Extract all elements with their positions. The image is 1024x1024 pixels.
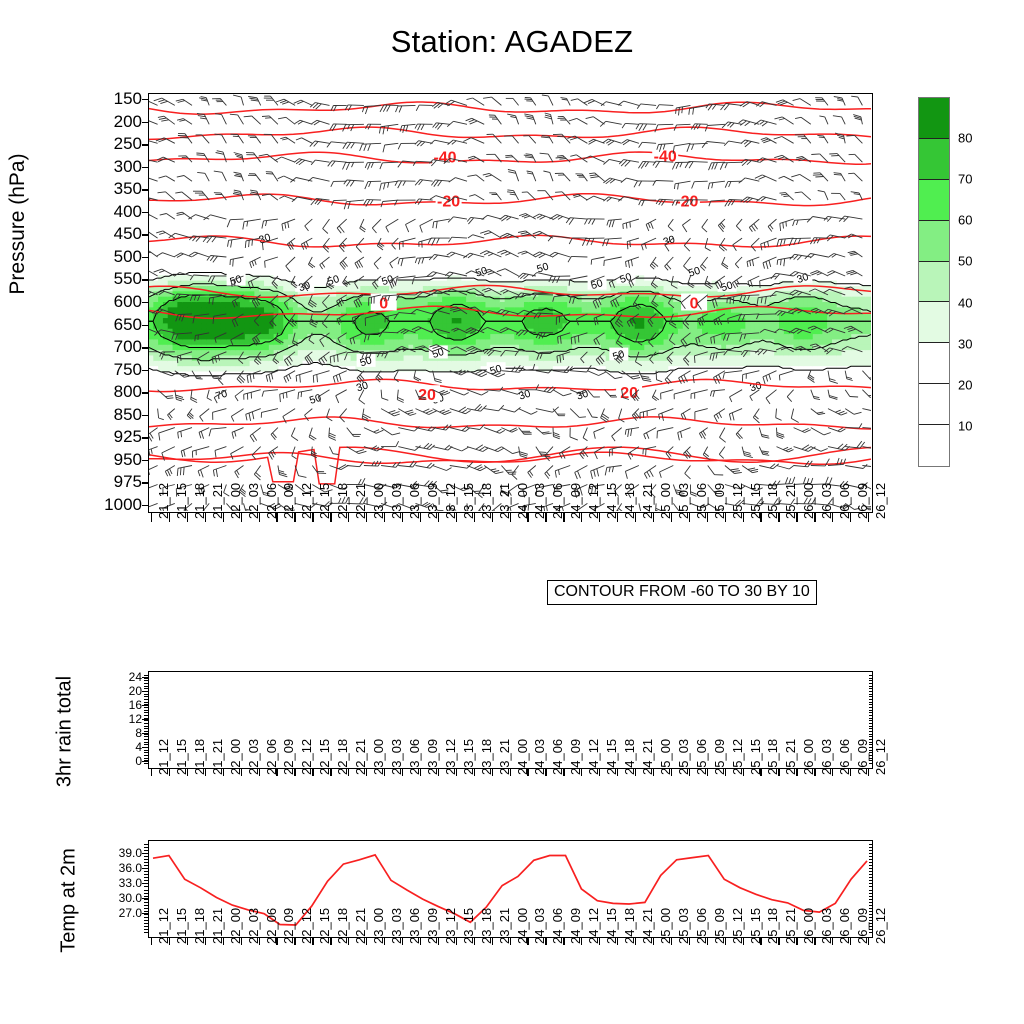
temp-minor-tick xyxy=(144,853,148,854)
rain-minor-tick xyxy=(144,691,148,692)
x-tick-mark xyxy=(527,769,528,776)
colorbar-band[interactable] xyxy=(919,302,949,343)
temp-minor-tick xyxy=(869,929,873,930)
rain-y-tick: 4 xyxy=(0,740,142,754)
colorbar-band[interactable] xyxy=(919,425,949,466)
x-tick-mark xyxy=(671,769,672,776)
x-tick-mark xyxy=(420,769,421,776)
main-y-tick: 350 xyxy=(0,179,142,199)
rain-minor-tick xyxy=(144,688,148,689)
x-tick-mark xyxy=(474,769,475,776)
x-tick-mark xyxy=(689,938,690,945)
temp-minor-tick xyxy=(144,902,148,903)
colorbar-tick-label: 40 xyxy=(958,295,972,310)
x-tick-mark xyxy=(599,769,600,776)
x-tick-mark xyxy=(438,769,439,776)
temp-minor-tick xyxy=(869,877,873,878)
x-tick-mark xyxy=(653,513,654,522)
x-tick-mark xyxy=(671,938,672,945)
x-tick-mark xyxy=(205,938,206,945)
main-y-tick: 450 xyxy=(0,224,142,244)
x-tick-mark xyxy=(527,513,528,522)
x-tick-mark xyxy=(276,938,277,945)
colorbar-tick-label: 10 xyxy=(958,418,972,433)
colorbar-tick-label: 70 xyxy=(958,172,972,187)
x-tick-mark xyxy=(760,769,761,776)
x-tick-mark xyxy=(241,513,242,522)
x-tick-mark xyxy=(420,513,421,522)
temp-minor-tick xyxy=(869,905,873,906)
rain-minor-tick xyxy=(144,702,148,703)
rain-minor-tick xyxy=(869,696,873,697)
rain-minor-tick xyxy=(144,758,148,759)
rain-minor-tick xyxy=(869,686,873,687)
x-tick-mark xyxy=(581,769,582,776)
x-tick-mark xyxy=(527,938,528,945)
rain-y-tick: 12 xyxy=(0,712,142,726)
rain-minor-tick xyxy=(144,720,148,721)
temp-minor-tick xyxy=(869,880,873,881)
rain-minor-tick xyxy=(869,718,873,719)
main-y-tick: 250 xyxy=(0,134,142,154)
x-tick-label: 26_12 xyxy=(873,483,888,519)
colorbar-tick-label: 80 xyxy=(958,131,972,146)
temp-minor-tick xyxy=(144,874,148,875)
temp-minor-tick xyxy=(144,871,148,872)
x-tick-mark xyxy=(581,513,582,522)
x-tick-mark xyxy=(187,938,188,945)
svg-text:-40: -40 xyxy=(433,150,456,167)
rain-minor-tick xyxy=(869,763,873,764)
x-tick-mark xyxy=(294,769,295,776)
temp-minor-tick xyxy=(869,844,873,845)
x-tick-mark xyxy=(617,938,618,945)
x-tick-mark xyxy=(187,769,188,776)
colorbar-band[interactable] xyxy=(919,343,949,384)
x-tick-mark xyxy=(276,769,277,776)
x-tick-mark xyxy=(832,938,833,945)
temp-minor-tick xyxy=(869,926,873,927)
temp-minor-tick xyxy=(144,890,148,891)
x-tick-mark xyxy=(617,769,618,776)
x-tick-mark xyxy=(492,513,493,522)
rain-minor-tick xyxy=(144,715,148,716)
x-tick-label: 26_12 xyxy=(873,908,888,944)
rain-minor-tick xyxy=(869,678,873,679)
colorbar-band[interactable] xyxy=(919,384,949,425)
main-y-tick: 400 xyxy=(0,202,142,222)
x-tick-mark xyxy=(312,938,313,945)
x-tick-mark xyxy=(581,938,582,945)
temp-y-tick: 39.0 xyxy=(0,846,142,860)
rain-minor-tick xyxy=(144,747,148,748)
temp-minor-tick xyxy=(144,844,148,845)
main-y-tick: 500 xyxy=(0,247,142,267)
x-tick-mark xyxy=(778,769,779,776)
rain-minor-tick xyxy=(144,734,148,735)
temp-minor-tick xyxy=(869,890,873,891)
temp-minor-tick xyxy=(869,902,873,903)
x-tick-mark xyxy=(384,513,385,522)
x-tick-mark xyxy=(563,513,564,522)
rain-y-tick: 8 xyxy=(0,726,142,740)
temp-y-tick: 27.0 xyxy=(0,906,142,920)
x-tick-mark xyxy=(294,938,295,945)
x-tick-mark xyxy=(205,513,206,522)
sounding-time-height-plot[interactable]: 7050503050505050505050503030305050303030… xyxy=(148,93,873,513)
temp-minor-tick xyxy=(869,914,873,915)
rain-minor-tick xyxy=(144,680,148,681)
rain-minor-tick xyxy=(144,750,148,751)
x-tick-mark xyxy=(456,513,457,522)
x-tick-mark xyxy=(599,938,600,945)
x-tick-mark xyxy=(653,938,654,945)
temp-minor-tick xyxy=(869,859,873,860)
temp-minor-tick xyxy=(869,911,873,912)
rain-minor-tick xyxy=(144,739,148,740)
rain-minor-tick xyxy=(144,731,148,732)
main-y-tick: 200 xyxy=(0,112,142,132)
rain-minor-tick xyxy=(144,707,148,708)
x-tick-mark xyxy=(312,769,313,776)
x-tick-mark xyxy=(545,938,546,945)
rain-minor-tick xyxy=(144,712,148,713)
x-tick-mark xyxy=(743,769,744,776)
main-y-tick: 950 xyxy=(0,450,142,470)
rain-minor-tick xyxy=(144,699,148,700)
x-tick-mark xyxy=(169,769,170,776)
colorbar-tick-label: 30 xyxy=(958,336,972,351)
temp-minor-tick xyxy=(144,886,148,887)
x-tick-mark xyxy=(796,938,797,945)
temp-minor-tick xyxy=(869,853,873,854)
x-tick-mark xyxy=(438,513,439,522)
rain-minor-tick xyxy=(144,763,148,764)
x-tick-mark xyxy=(169,513,170,522)
temp-minor-tick xyxy=(144,932,148,933)
temp-minor-tick xyxy=(869,899,873,900)
rain-minor-tick xyxy=(144,728,148,729)
x-tick-mark xyxy=(760,938,761,945)
rain-minor-tick xyxy=(869,747,873,748)
x-tick-mark xyxy=(707,938,708,945)
main-y-tick: 975 xyxy=(0,472,142,492)
x-tick-mark xyxy=(868,769,869,776)
x-tick-mark xyxy=(259,938,260,945)
x-tick-mark xyxy=(241,938,242,945)
rain-minor-tick xyxy=(869,736,873,737)
rain-minor-tick xyxy=(869,723,873,724)
temp-minor-tick xyxy=(869,874,873,875)
x-tick-mark xyxy=(348,769,349,776)
rain-y-tick: 0 xyxy=(0,754,142,768)
rain-minor-tick xyxy=(869,699,873,700)
colorbar-band[interactable] xyxy=(919,98,949,139)
x-tick-mark xyxy=(294,513,295,522)
x-tick-mark xyxy=(348,513,349,522)
rain-minor-tick xyxy=(869,688,873,689)
colorbar-tick-label: 20 xyxy=(958,377,972,392)
x-tick-mark xyxy=(241,769,242,776)
x-tick-mark xyxy=(312,513,313,522)
x-tick-mark xyxy=(151,769,152,776)
rain-minor-tick xyxy=(144,704,148,705)
rain-y-tick: 20 xyxy=(0,684,142,698)
x-tick-mark xyxy=(760,513,761,522)
main-y-tick: 550 xyxy=(0,269,142,289)
x-tick-mark xyxy=(725,513,726,522)
temp-y-tick: 30.0 xyxy=(0,891,142,905)
x-tick-mark xyxy=(510,513,511,522)
svg-text:-20: -20 xyxy=(675,193,698,210)
rain-minor-tick xyxy=(144,755,148,756)
x-tick-mark xyxy=(599,513,600,522)
rain-minor-tick xyxy=(869,680,873,681)
main-y-tick: 600 xyxy=(0,292,142,312)
main-y-tick: 300 xyxy=(0,157,142,177)
temp-minor-tick xyxy=(869,920,873,921)
main-y-tick: 700 xyxy=(0,337,142,357)
x-tick-mark xyxy=(689,513,690,522)
main-y-tick: 925 xyxy=(0,427,142,447)
temp-minor-tick xyxy=(144,917,148,918)
x-tick-mark xyxy=(868,938,869,945)
temp-minor-tick xyxy=(869,847,873,848)
x-tick-mark xyxy=(492,769,493,776)
x-tick-mark xyxy=(420,938,421,945)
rain-minor-tick xyxy=(869,739,873,740)
temp-minor-tick xyxy=(869,862,873,863)
x-tick-mark xyxy=(563,769,564,776)
temp-minor-tick xyxy=(144,908,148,909)
main-y-tick: 1000 xyxy=(0,495,142,515)
x-tick-mark xyxy=(510,938,511,945)
temp-minor-tick xyxy=(144,859,148,860)
x-tick-mark xyxy=(384,938,385,945)
temp-minor-tick xyxy=(144,911,148,912)
temp-minor-tick xyxy=(144,847,148,848)
temp-y-tick: 36.0 xyxy=(0,861,142,875)
rain-minor-tick xyxy=(144,678,148,679)
x-tick-mark xyxy=(366,513,367,522)
x-tick-mark xyxy=(330,513,331,522)
x-tick-mark xyxy=(563,938,564,945)
rain-minor-tick xyxy=(869,691,873,692)
x-tick-mark xyxy=(707,513,708,522)
x-tick-mark xyxy=(778,513,779,522)
svg-text:0: 0 xyxy=(379,296,388,313)
x-tick-mark xyxy=(330,769,331,776)
temp-minor-tick xyxy=(144,926,148,927)
x-tick-mark xyxy=(456,938,457,945)
rain-minor-tick xyxy=(869,710,873,711)
temp-minor-tick xyxy=(144,893,148,894)
rain-minor-tick xyxy=(869,707,873,708)
main-y-tick: 650 xyxy=(0,315,142,335)
rain-minor-tick xyxy=(144,696,148,697)
rain-minor-tick xyxy=(869,734,873,735)
rain-minor-tick xyxy=(144,683,148,684)
colorbar[interactable] xyxy=(918,97,950,467)
rain-minor-tick xyxy=(869,750,873,751)
temp-minor-tick xyxy=(869,865,873,866)
rain-minor-tick xyxy=(144,726,148,727)
main-y-tick: 150 xyxy=(0,89,142,109)
temp-minor-tick xyxy=(869,893,873,894)
temp-minor-tick xyxy=(144,914,148,915)
rain-minor-tick xyxy=(869,742,873,743)
x-tick-label: 26_12 xyxy=(873,739,888,775)
x-tick-mark xyxy=(796,513,797,522)
rain-minor-tick xyxy=(869,731,873,732)
x-tick-mark xyxy=(545,513,546,522)
temp-minor-tick xyxy=(144,896,148,897)
x-tick-mark xyxy=(169,938,170,945)
rain-minor-tick xyxy=(869,726,873,727)
rain-minor-tick xyxy=(869,744,873,745)
temp-minor-tick xyxy=(144,929,148,930)
temp-minor-tick xyxy=(869,850,873,851)
x-tick-mark xyxy=(545,769,546,776)
rain-minor-tick xyxy=(144,752,148,753)
rain-minor-tick xyxy=(144,742,148,743)
temp-minor-tick xyxy=(869,917,873,918)
x-tick-mark xyxy=(456,769,457,776)
temp-minor-tick xyxy=(869,886,873,887)
temp-minor-tick xyxy=(869,871,873,872)
x-tick-mark xyxy=(832,769,833,776)
x-tick-mark xyxy=(635,769,636,776)
temp-minor-tick xyxy=(869,856,873,857)
rain-minor-tick xyxy=(869,760,873,761)
rain-minor-tick xyxy=(869,675,873,676)
x-tick-mark xyxy=(689,769,690,776)
x-tick-mark xyxy=(384,769,385,776)
temp-minor-tick xyxy=(869,896,873,897)
temp-minor-tick xyxy=(144,923,148,924)
x-tick-mark xyxy=(832,513,833,522)
page-title: Station: AGADEZ xyxy=(0,24,1024,60)
main-y-tick: 800 xyxy=(0,382,142,402)
x-tick-mark xyxy=(850,769,851,776)
temp-minor-tick xyxy=(144,883,148,884)
x-tick-mark xyxy=(743,513,744,522)
temp-minor-tick xyxy=(144,905,148,906)
temp-minor-tick xyxy=(144,899,148,900)
rain-minor-tick xyxy=(869,720,873,721)
x-tick-mark xyxy=(796,769,797,776)
colorbar-band[interactable] xyxy=(919,180,949,221)
rain-minor-tick xyxy=(869,755,873,756)
x-tick-mark xyxy=(653,769,654,776)
rain-minor-tick xyxy=(144,675,148,676)
rain-minor-tick xyxy=(144,736,148,737)
rain-minor-tick xyxy=(869,758,873,759)
rain-minor-tick xyxy=(869,704,873,705)
temp-minor-tick xyxy=(869,868,873,869)
rain-minor-tick xyxy=(144,760,148,761)
main-y-tick: 750 xyxy=(0,360,142,380)
temp-minor-tick xyxy=(144,850,148,851)
x-tick-mark xyxy=(474,938,475,945)
temp-minor-tick xyxy=(144,868,148,869)
rain-y-tick: 16 xyxy=(0,698,142,712)
x-tick-mark xyxy=(366,769,367,776)
x-tick-mark xyxy=(402,938,403,945)
x-tick-mark xyxy=(617,513,618,522)
rain-minor-tick xyxy=(144,723,148,724)
x-tick-mark xyxy=(743,938,744,945)
rain-minor-tick xyxy=(869,752,873,753)
temp-minor-tick xyxy=(144,880,148,881)
x-tick-mark xyxy=(707,769,708,776)
x-tick-mark xyxy=(492,938,493,945)
rain-minor-tick xyxy=(144,744,148,745)
x-tick-mark xyxy=(402,769,403,776)
colorbar-band[interactable] xyxy=(919,262,949,303)
x-tick-mark xyxy=(635,513,636,522)
rain-minor-tick xyxy=(869,694,873,695)
x-tick-mark xyxy=(276,513,277,522)
temp-minor-tick xyxy=(869,932,873,933)
x-tick-mark xyxy=(814,938,815,945)
main-y-tick: 850 xyxy=(0,405,142,425)
rain-minor-tick xyxy=(144,686,148,687)
x-tick-mark xyxy=(814,769,815,776)
x-tick-mark xyxy=(223,938,224,945)
x-tick-mark xyxy=(474,513,475,522)
x-tick-mark xyxy=(814,513,815,522)
sounding-svg: 7050503050505050505050503030305050303030… xyxy=(149,94,871,511)
x-tick-mark xyxy=(223,769,224,776)
temp-minor-tick xyxy=(144,862,148,863)
x-tick-mark xyxy=(438,938,439,945)
temp-minor-tick xyxy=(144,856,148,857)
rain-minor-tick xyxy=(869,683,873,684)
x-tick-mark xyxy=(259,513,260,522)
x-tick-mark xyxy=(725,769,726,776)
x-tick-mark xyxy=(205,769,206,776)
rain-y-tick: 24 xyxy=(0,670,142,684)
x-tick-mark xyxy=(223,513,224,522)
temp-minor-tick xyxy=(144,865,148,866)
x-tick-mark xyxy=(635,938,636,945)
x-tick-mark xyxy=(348,938,349,945)
temp-minor-tick xyxy=(144,877,148,878)
rain-minor-tick xyxy=(869,715,873,716)
x-tick-mark xyxy=(868,513,869,522)
x-tick-mark xyxy=(187,513,188,522)
rain-minor-tick xyxy=(869,702,873,703)
rain-minor-tick xyxy=(144,718,148,719)
x-tick-mark xyxy=(151,938,152,945)
rain-minor-tick xyxy=(144,710,148,711)
temp-minor-tick xyxy=(144,920,148,921)
colorbar-band[interactable] xyxy=(919,139,949,180)
x-tick-mark xyxy=(259,769,260,776)
temp-y-tick: 33.0 xyxy=(0,876,142,890)
temp-minor-tick xyxy=(869,883,873,884)
x-tick-mark xyxy=(402,513,403,522)
colorbar-band[interactable] xyxy=(919,221,949,262)
temp-minor-tick xyxy=(869,923,873,924)
colorbar-tick-label: 50 xyxy=(958,254,972,269)
rain-minor-tick xyxy=(144,694,148,695)
x-tick-mark xyxy=(725,938,726,945)
x-tick-mark xyxy=(778,938,779,945)
x-tick-mark xyxy=(850,513,851,522)
x-tick-mark xyxy=(366,938,367,945)
